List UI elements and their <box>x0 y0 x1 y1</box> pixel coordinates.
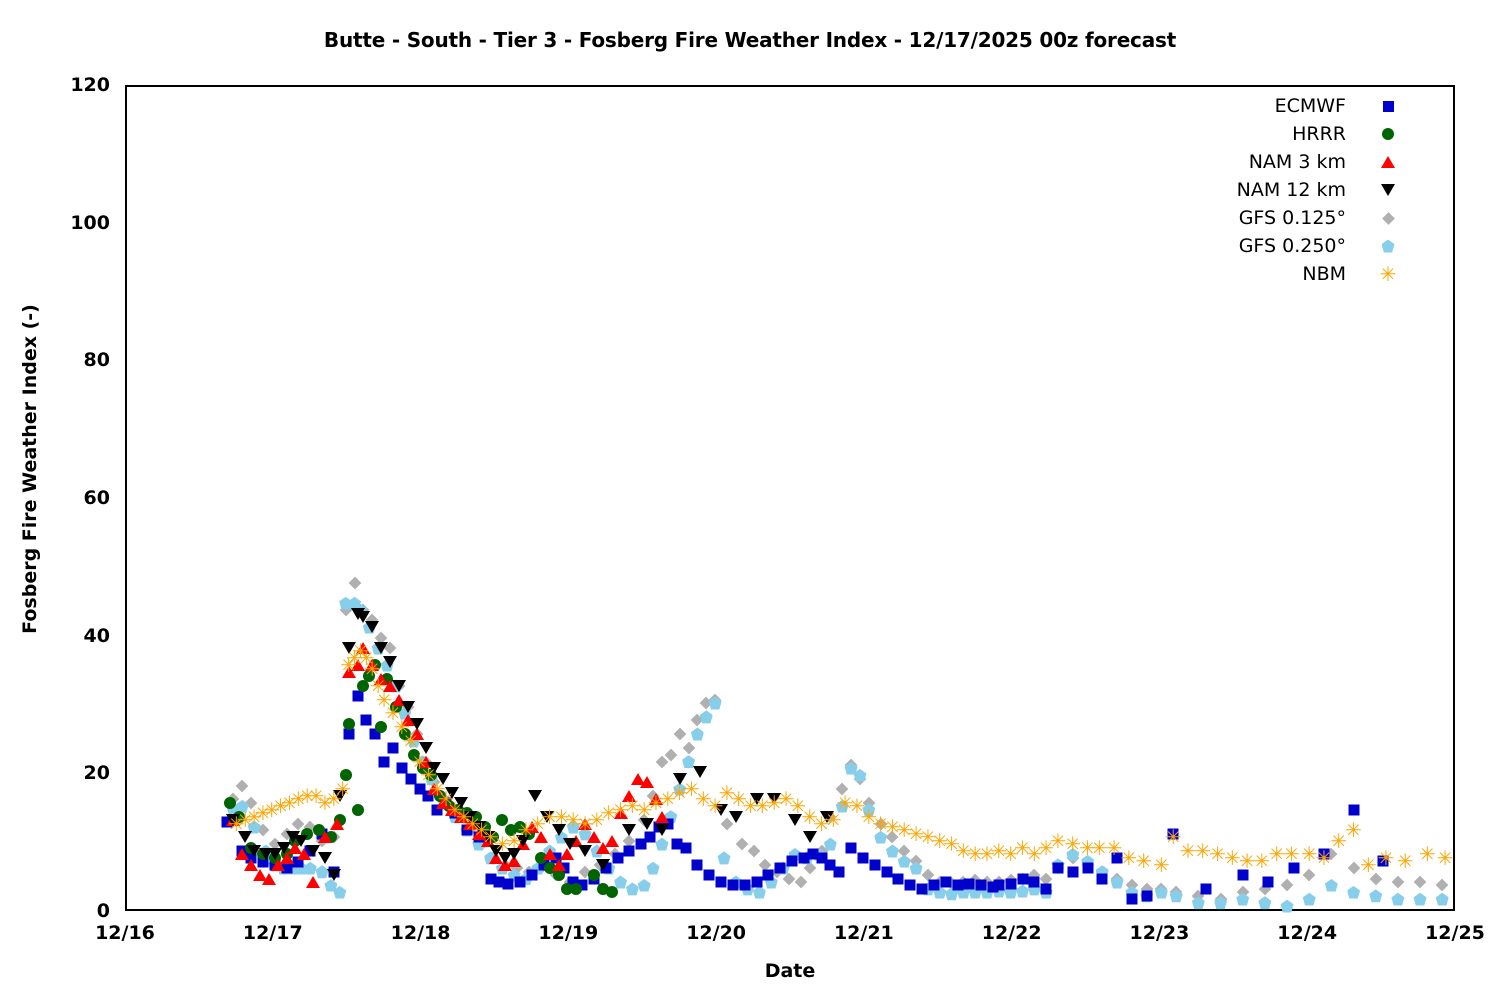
data-point <box>463 818 477 830</box>
data-point <box>721 817 734 830</box>
data-point <box>673 728 686 741</box>
data-point <box>1028 882 1041 895</box>
data-point <box>425 769 437 781</box>
data-point: ✳ <box>695 794 712 804</box>
data-point: ✳ <box>1209 849 1226 859</box>
legend-item[interactable]: NAM 12 km <box>1150 176 1400 204</box>
data-point <box>1112 852 1123 863</box>
data-point <box>836 800 849 813</box>
data-point <box>425 772 438 785</box>
data-point <box>398 707 411 720</box>
data-point: ✳ <box>308 791 325 801</box>
data-point <box>343 718 355 730</box>
data-point: ✳ <box>1419 849 1436 859</box>
data-point <box>472 838 485 851</box>
square-marker <box>1376 101 1400 112</box>
data-point: ✳ <box>967 849 984 859</box>
data-point <box>487 852 500 865</box>
data-point <box>928 880 939 891</box>
data-point: ✳ <box>813 819 830 829</box>
legend-item[interactable]: NAM 3 km <box>1150 148 1400 176</box>
data-point <box>636 839 647 850</box>
data-point <box>836 783 849 796</box>
data-point <box>544 862 556 874</box>
data-point <box>741 882 754 895</box>
data-point: ✳ <box>518 825 535 835</box>
data-point <box>470 811 482 823</box>
data-point <box>511 862 524 875</box>
chart-page: Butte - South - Tier 3 - Fosberg Fire We… <box>0 0 1500 1000</box>
data-point <box>645 832 656 843</box>
data-point: ✳ <box>730 794 747 804</box>
data-point <box>1170 889 1183 902</box>
data-point: ✳ <box>420 770 437 780</box>
data-point <box>363 670 375 682</box>
data-point <box>281 848 293 860</box>
data-point <box>820 811 834 823</box>
data-point <box>313 824 325 836</box>
data-point <box>1066 848 1079 861</box>
legend-item-label: NAM 3 km <box>1150 151 1376 173</box>
data-point <box>365 621 379 633</box>
data-point <box>775 863 786 874</box>
data-point: ✳ <box>1106 843 1123 853</box>
data-point: ✳ <box>1437 853 1454 863</box>
data-point <box>1281 900 1294 913</box>
data-point <box>640 818 654 830</box>
data-point <box>352 804 364 816</box>
data-point <box>1081 855 1094 868</box>
data-point <box>992 884 1005 897</box>
data-point <box>1040 872 1053 885</box>
data-point <box>1200 883 1211 894</box>
data-point <box>640 776 654 788</box>
data-point: ✳ <box>447 805 464 815</box>
data-point <box>893 873 904 884</box>
data-point <box>334 814 346 826</box>
legend-item-label: NBM <box>1150 263 1376 285</box>
data-point <box>981 886 994 899</box>
data-point: ✳ <box>393 722 410 732</box>
data-point <box>233 811 245 823</box>
data-point <box>577 880 588 891</box>
data-point <box>348 576 361 589</box>
legend-item-label: HRRR <box>1150 123 1376 145</box>
data-point <box>1192 896 1205 909</box>
data-point <box>475 838 488 851</box>
data-point <box>1097 873 1108 884</box>
data-point <box>578 818 592 830</box>
data-point <box>750 793 764 805</box>
data-point <box>494 877 505 888</box>
data-point <box>408 749 420 761</box>
pentagon-marker <box>1376 240 1400 253</box>
data-point: ✳ <box>529 819 546 829</box>
data-point <box>1029 877 1040 888</box>
data-point <box>1017 873 1028 884</box>
data-point: ✳ <box>376 695 393 705</box>
data-point <box>1066 852 1079 865</box>
data-point <box>596 842 610 854</box>
data-point <box>917 883 928 894</box>
data-point <box>655 811 669 823</box>
data-point: ✳ <box>541 812 558 822</box>
data-point <box>472 828 486 840</box>
data-point <box>277 862 290 875</box>
data-point <box>569 835 583 847</box>
data-point: ✳ <box>1165 832 1182 842</box>
data-point <box>692 859 703 870</box>
data-point <box>450 808 461 819</box>
data-point: ✳ <box>1153 860 1170 870</box>
data-point: ✳ <box>979 849 996 859</box>
data-point <box>862 796 875 809</box>
data-point <box>407 734 420 747</box>
data-point <box>381 673 393 685</box>
data-point <box>325 831 337 843</box>
legend-item[interactable]: NBM✳ <box>1150 260 1400 288</box>
data-point <box>381 659 394 672</box>
data-point <box>596 859 610 871</box>
data-point <box>383 680 397 692</box>
data-point <box>356 611 370 623</box>
data-point <box>339 597 352 610</box>
data-point <box>1281 879 1294 892</box>
data-point <box>767 793 781 805</box>
data-point <box>655 838 668 851</box>
data-point <box>1347 886 1360 899</box>
data-point <box>257 857 268 868</box>
data-point <box>673 783 686 796</box>
x-tick-label: 12/18 <box>391 922 451 944</box>
data-point <box>812 848 825 861</box>
data-point <box>463 824 476 837</box>
data-point <box>1125 886 1138 899</box>
data-point <box>656 755 669 768</box>
data-point: ✳ <box>1091 843 1108 853</box>
data-point <box>1303 869 1316 882</box>
y-tick-label: 20 <box>50 762 110 784</box>
data-point <box>1005 879 1016 890</box>
data-point: ✳ <box>456 812 473 822</box>
data-point: ✳ <box>334 784 351 794</box>
data-point <box>559 863 570 874</box>
data-point <box>343 729 354 740</box>
data-point <box>807 849 818 860</box>
data-point <box>816 852 827 863</box>
data-point <box>401 701 415 713</box>
data-point: ✳ <box>565 815 582 825</box>
data-point <box>268 848 282 860</box>
data-point: ✳ <box>290 794 307 804</box>
data-point <box>288 842 302 854</box>
data-point: ✳ <box>1330 836 1347 846</box>
legend-item[interactable]: GFS 0.125° <box>1150 204 1400 232</box>
data-point: ✳ <box>837 798 854 808</box>
data-point <box>306 845 320 857</box>
data-point <box>515 877 526 888</box>
data-point <box>600 863 611 874</box>
data-point <box>461 807 473 819</box>
data-point: ✳ <box>1360 860 1377 870</box>
data-point <box>1414 893 1427 906</box>
data-point <box>945 878 958 891</box>
data-point: ✳ <box>801 812 818 822</box>
data-point <box>473 832 484 843</box>
data-point <box>550 852 561 863</box>
data-point <box>342 642 356 654</box>
diamond-marker <box>1376 214 1400 223</box>
data-point <box>693 766 707 778</box>
data-point <box>874 817 887 830</box>
data-point <box>608 848 621 861</box>
data-point <box>787 856 798 867</box>
y-tick-label: 40 <box>50 625 110 647</box>
data-point: ✳ <box>1224 853 1241 863</box>
data-point <box>727 880 738 891</box>
data-point <box>898 855 911 868</box>
data-point <box>535 852 547 864</box>
data-point <box>481 835 495 847</box>
data-point <box>1140 889 1153 902</box>
data-point: ✳ <box>299 791 316 801</box>
data-point <box>940 877 951 888</box>
data-point <box>803 831 817 843</box>
data-point <box>352 691 363 702</box>
data-point <box>664 748 677 761</box>
data-point <box>1436 879 1449 892</box>
data-point <box>794 876 807 889</box>
data-point: ✳ <box>683 784 700 794</box>
y-tick-label: 120 <box>50 74 110 96</box>
data-point <box>993 876 1006 889</box>
data-point <box>709 693 722 706</box>
data-point: ✳ <box>1014 843 1031 853</box>
data-point: ✳ <box>943 839 960 849</box>
data-point <box>1325 848 1338 861</box>
data-point <box>516 835 530 847</box>
data-point <box>496 814 508 826</box>
data-point <box>269 859 280 870</box>
data-point <box>318 831 332 843</box>
data-point <box>759 858 772 871</box>
data-point <box>540 811 554 823</box>
data-point <box>1052 862 1065 875</box>
data-point: ✳ <box>577 819 594 829</box>
data-point <box>271 859 285 871</box>
data-point: ✳ <box>317 798 334 808</box>
data-point: ✳ <box>1121 853 1138 863</box>
x-tick-label: 12/22 <box>982 922 1042 944</box>
data-point <box>396 763 407 774</box>
data-point: ✳ <box>849 801 866 811</box>
data-point <box>993 880 1004 891</box>
data-point <box>316 865 329 878</box>
data-point <box>824 838 837 851</box>
data-point <box>1237 870 1248 881</box>
data-point <box>410 728 423 741</box>
data-point <box>921 882 934 895</box>
data-point: ✳ <box>920 832 937 842</box>
data-point <box>503 879 514 890</box>
data-point <box>1082 863 1093 874</box>
data-point <box>434 790 446 802</box>
data-point <box>472 821 486 833</box>
x-axis-label: Date <box>125 960 1455 982</box>
data-point <box>499 858 512 871</box>
legend-item[interactable]: GFS 0.250° <box>1150 232 1400 260</box>
data-point <box>1155 883 1168 896</box>
data-point <box>268 838 281 851</box>
legend-item[interactable]: ECMWF <box>1150 92 1400 120</box>
data-point <box>286 862 299 875</box>
data-point <box>410 718 424 730</box>
data-point <box>549 869 562 882</box>
data-point <box>297 848 311 860</box>
y-tick-label: 60 <box>50 487 110 509</box>
data-point: ✳ <box>1180 846 1197 856</box>
data-point <box>379 756 390 767</box>
data-point <box>857 852 868 863</box>
legend-item[interactable]: HRRR <box>1150 120 1400 148</box>
data-point <box>372 641 385 654</box>
legend: ECMWFHRRRNAM 3 kmNAM 12 kmGFS 0.125°GFS … <box>1150 92 1400 288</box>
data-point <box>568 877 579 888</box>
data-point <box>1391 893 1404 906</box>
data-point <box>1126 894 1137 905</box>
data-point: ✳ <box>778 794 795 804</box>
data-point: ✳ <box>346 653 363 663</box>
data-point <box>248 820 261 833</box>
data-point <box>933 886 946 899</box>
data-point <box>523 865 536 878</box>
data-point <box>655 824 669 836</box>
data-point: ✳ <box>1301 849 1318 859</box>
data-point <box>976 880 987 891</box>
data-point <box>587 831 601 843</box>
data-point <box>771 865 784 878</box>
data-point <box>588 869 600 881</box>
data-point <box>363 621 376 634</box>
data-point <box>419 755 432 768</box>
data-point <box>247 845 261 857</box>
data-point <box>1041 883 1052 894</box>
data-point <box>1004 874 1017 887</box>
data-point <box>1053 863 1064 874</box>
data-point <box>969 874 982 887</box>
data-point <box>528 790 542 802</box>
data-point: ✳ <box>1135 856 1152 866</box>
data-point <box>815 845 828 858</box>
data-point: ✳ <box>364 664 381 674</box>
y-tick-label: 0 <box>50 900 110 922</box>
data-point <box>318 852 332 864</box>
asterisk-marker: ✳ <box>1376 267 1400 281</box>
data-point: ✳ <box>671 788 688 798</box>
data-point: ✳ <box>255 808 272 818</box>
data-point: ✳ <box>1079 843 1096 853</box>
data-point: ✳ <box>1397 856 1414 866</box>
y-tick-label: 100 <box>50 212 110 234</box>
data-point <box>945 887 958 900</box>
data-point <box>293 857 304 868</box>
data-point <box>351 659 365 671</box>
data-point <box>933 876 946 889</box>
data-point: ✳ <box>931 836 948 846</box>
data-point <box>1347 862 1360 875</box>
data-point <box>869 859 880 870</box>
data-point <box>561 883 573 895</box>
data-point <box>729 876 742 889</box>
data-point <box>388 742 399 753</box>
data-point <box>452 810 465 823</box>
data-point <box>969 886 982 899</box>
data-point <box>803 862 816 875</box>
x-tick-label: 12/21 <box>834 922 894 944</box>
data-point <box>881 866 892 877</box>
data-point <box>765 876 778 889</box>
data-point <box>898 845 911 858</box>
data-point <box>739 880 750 891</box>
data-point <box>498 852 512 864</box>
data-point <box>614 807 628 819</box>
data-point <box>253 869 267 881</box>
data-point <box>1140 883 1153 896</box>
data-point <box>1111 872 1124 885</box>
data-point <box>516 838 530 850</box>
data-point <box>1369 889 1382 902</box>
data-point: ✳ <box>246 812 263 822</box>
data-point: ✳ <box>1064 839 1081 849</box>
data-point <box>280 827 293 840</box>
data-point <box>496 862 509 875</box>
data-point <box>753 886 766 899</box>
data-point <box>306 876 320 888</box>
data-point: ✳ <box>1026 849 1043 859</box>
y-tick-label: 80 <box>50 349 110 371</box>
data-point <box>245 842 257 854</box>
data-point <box>1081 858 1094 871</box>
data-point <box>563 838 577 850</box>
data-point <box>845 759 858 772</box>
data-point <box>440 796 453 809</box>
data-point <box>626 882 639 895</box>
data-point <box>316 834 329 847</box>
data-point: ✳ <box>600 808 617 818</box>
data-point <box>560 848 574 860</box>
data-point <box>543 845 556 858</box>
data-point: ✳ <box>908 829 925 839</box>
data-point <box>594 858 607 871</box>
data-point <box>436 797 450 809</box>
data-point <box>414 784 425 795</box>
data-point <box>366 614 379 627</box>
data-point: ✳ <box>872 819 889 829</box>
data-point <box>564 876 577 889</box>
data-point <box>647 862 660 875</box>
data-point <box>788 848 801 861</box>
data-point <box>401 714 415 726</box>
data-point: ✳ <box>955 846 972 856</box>
data-point <box>588 873 599 884</box>
data-point <box>269 852 281 864</box>
data-point <box>357 604 370 617</box>
data-point <box>370 729 381 740</box>
data-point: ✳ <box>402 736 419 746</box>
data-point <box>798 852 809 863</box>
data-point <box>484 851 497 864</box>
data-point <box>452 804 464 816</box>
